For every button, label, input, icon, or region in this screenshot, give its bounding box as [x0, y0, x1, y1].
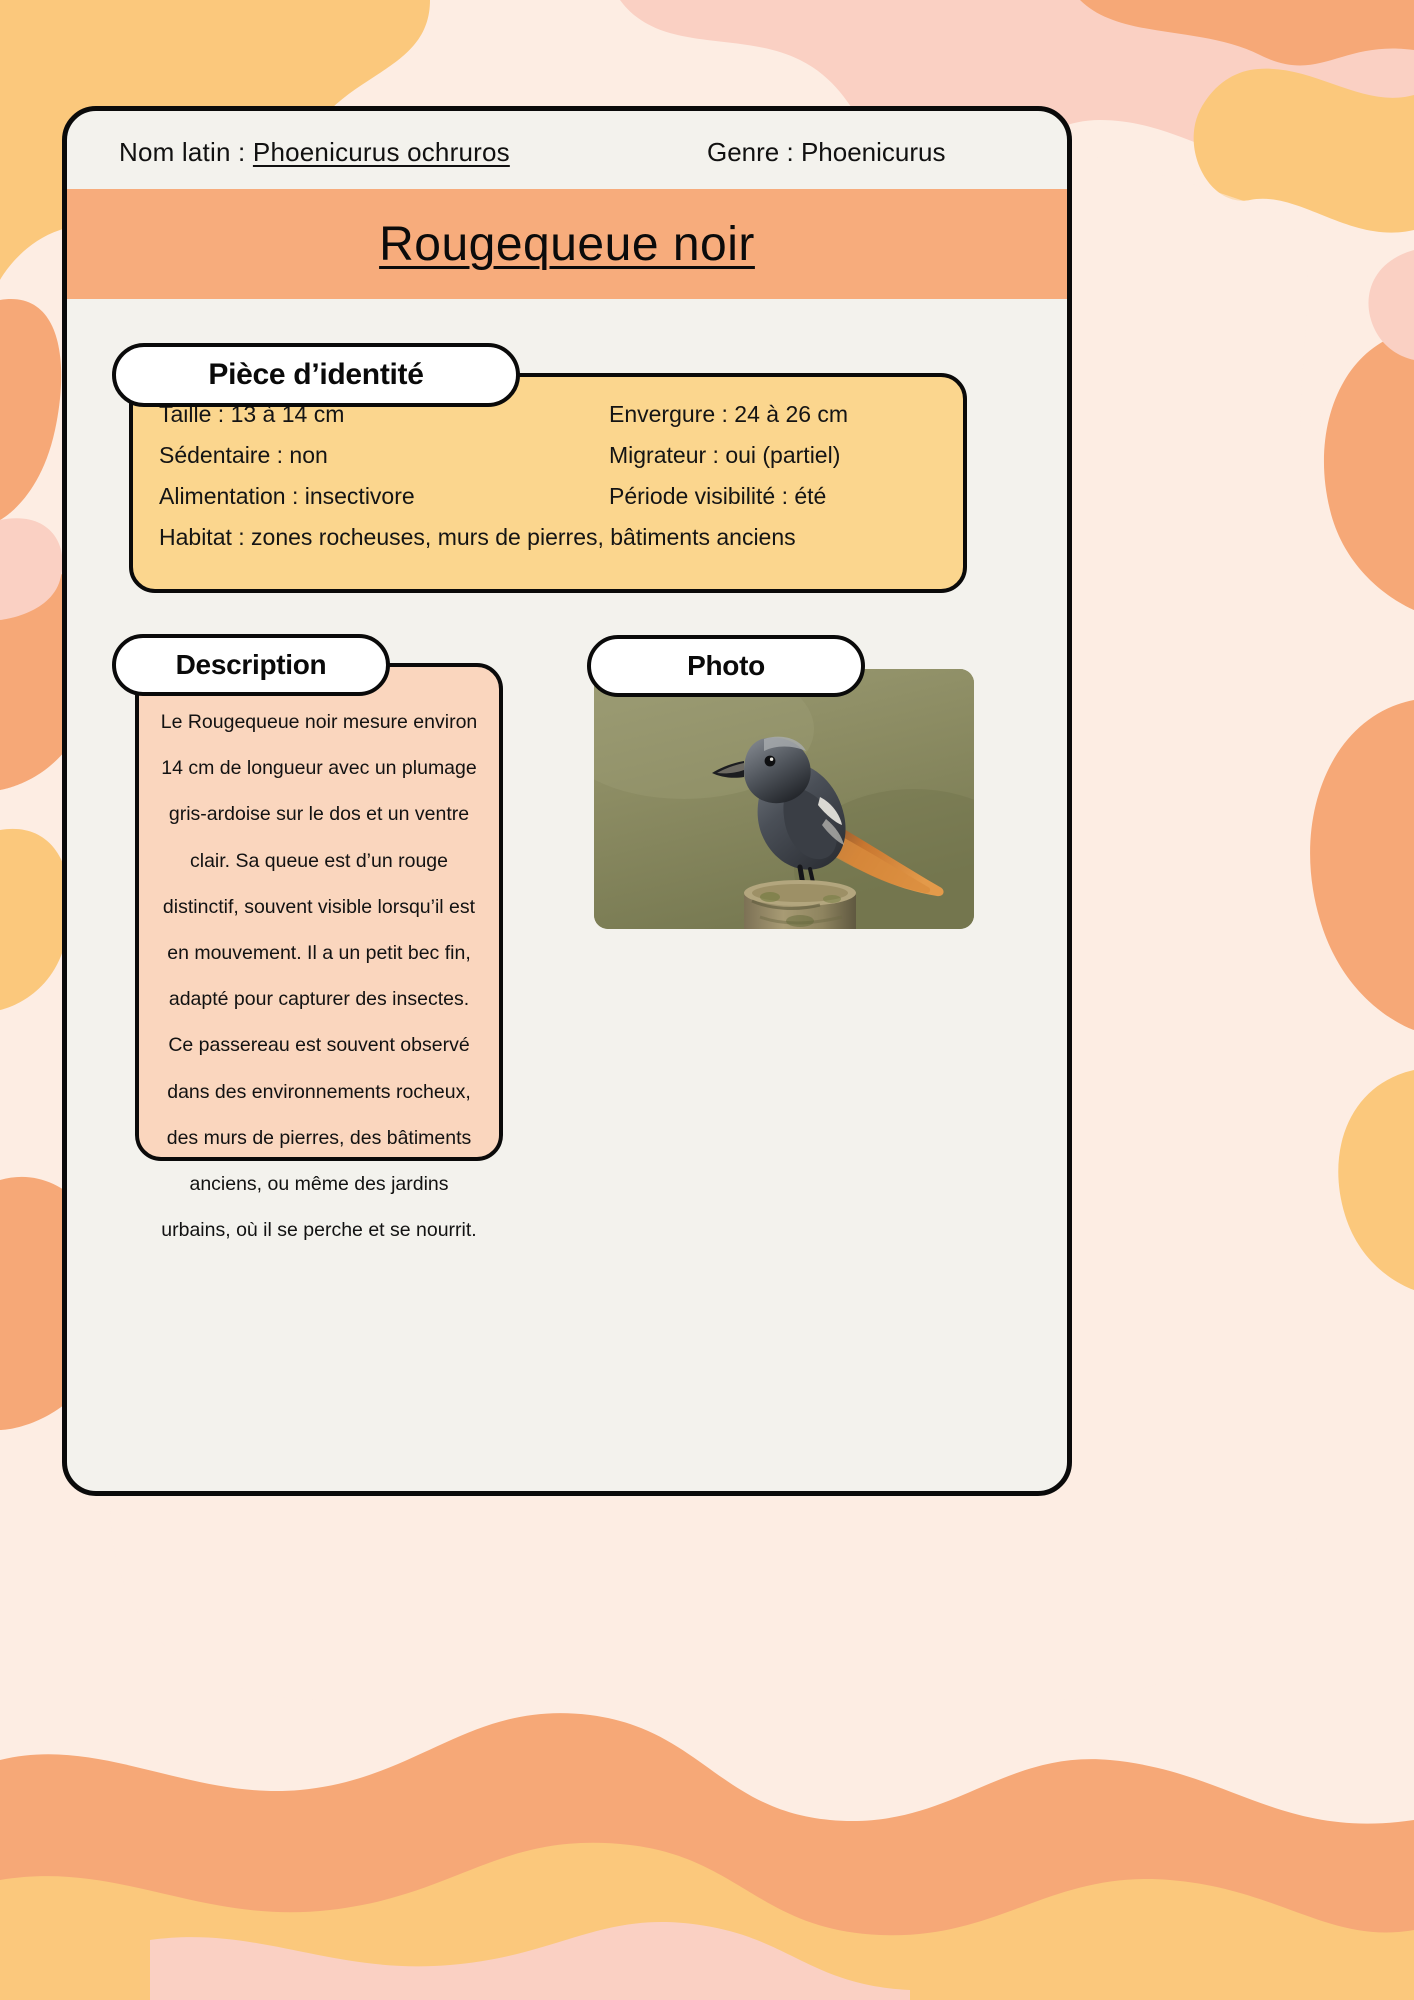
description-body: Le Rougequeue noir mesure environ 14 cm …	[139, 667, 499, 1157]
meta-row: Nom latin : Phoenicurus ochruros Genre :…	[67, 111, 1067, 189]
identity-migrateur: Migrateur : oui (partiel)	[609, 442, 840, 469]
page-title: Rougequeue noir	[379, 217, 755, 272]
description-card: Le Rougequeue noir mesure environ 14 cm …	[135, 663, 503, 1161]
identity-habitat: Habitat : zones rocheuses, murs de pierr…	[159, 524, 937, 551]
tab-piece-didentite: Pièce d’identité	[112, 343, 520, 407]
tab-description-label: Description	[176, 649, 327, 681]
identity-row: Alimentation : insectivore Période visib…	[159, 483, 937, 510]
tab-photo: Photo	[587, 635, 865, 697]
identity-grid: Taille : 13 à 14 cm Envergure : 24 à 26 …	[133, 377, 963, 589]
identity-row: Sédentaire : non Migrateur : oui (partie…	[159, 442, 937, 469]
fiche-sheet: Nom latin : Phoenicurus ochruros Genre :…	[62, 106, 1072, 1496]
latin-name-value: Phoenicurus ochruros	[253, 137, 510, 167]
title-banner: Rougequeue noir	[67, 189, 1067, 299]
identity-alimentation: Alimentation : insectivore	[159, 483, 609, 510]
genus-value: Phoenicurus	[801, 137, 946, 167]
tab-photo-label: Photo	[687, 650, 765, 682]
tab-piece-didentite-label: Pièce d’identité	[208, 358, 423, 392]
tab-description: Description	[112, 634, 390, 696]
genus-block: Genre : Phoenicurus	[707, 137, 946, 168]
latin-name-label: Nom latin :	[119, 137, 245, 167]
identity-envergure: Envergure : 24 à 26 cm	[609, 401, 848, 428]
genus-label: Genre :	[707, 137, 794, 167]
identity-sedentaire: Sédentaire : non	[159, 442, 609, 469]
latin-name-block: Nom latin : Phoenicurus ochruros	[119, 137, 510, 168]
identity-periode: Période visibilité : été	[609, 483, 826, 510]
bird-photo	[594, 669, 974, 929]
